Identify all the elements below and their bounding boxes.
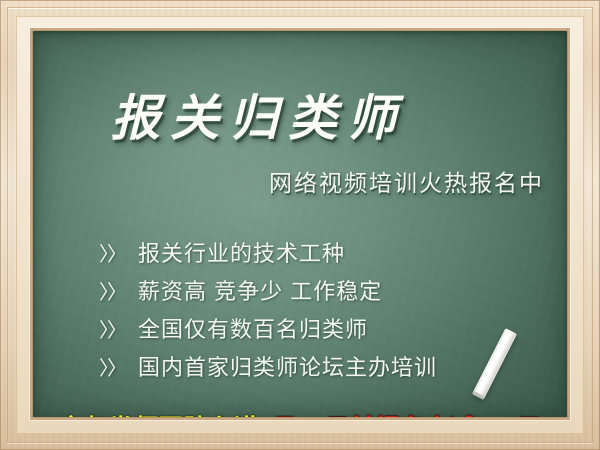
list-item-label: 国内首家归类师论坛主办培训 [138,350,437,382]
promo-banner: 全归类师团队主讲8月30日前报名立减370元 [33,409,567,417]
feature-list: 〉〉 报关行业的技术工种 〉〉 薪资高 竞争少 工作稳定 〉〉 全国仅有数百名归… [99,236,437,388]
list-item-label: 全国仅有数百名归类师 [138,312,368,344]
poster-title: 报关归类师 [111,79,406,150]
promo-offer-text: 8月30日前报名立减370元 [258,415,541,417]
poster-subtitle: 网络视频培训火热报名中 [269,164,544,198]
double-chevron-icon: 〉〉 [99,314,125,343]
double-chevron-icon: 〉〉 [99,276,125,305]
promo-highlight-text: 全归类师团队主讲 [58,415,258,417]
list-item-label: 薪资高 竞争少 工作稳定 [138,274,382,306]
double-chevron-icon: 〉〉 [99,238,125,267]
board-content: 报关归类师 网络视频培训火热报名中 〉〉 报关行业的技术工种 〉〉 薪资高 竞争… [33,31,567,417]
list-item: 〉〉 全国仅有数百名归类师 [99,312,437,350]
double-chevron-icon: 〉〉 [99,352,125,381]
list-item-label: 报关行业的技术工种 [138,236,345,268]
chalk-stick-icon [472,328,517,400]
chalkboard-surface: 报关归类师 网络视频培训火热报名中 〉〉 报关行业的技术工种 〉〉 薪资高 竞争… [33,31,567,417]
list-item: 〉〉 报关行业的技术工种 [99,236,437,274]
chalkboard-poster: 报关归类师 网络视频培训火热报名中 〉〉 报关行业的技术工种 〉〉 薪资高 竞争… [0,0,600,450]
list-item: 〉〉 国内首家归类师论坛主办培训 [99,350,437,388]
list-item: 〉〉 薪资高 竞争少 工作稳定 [99,274,437,312]
